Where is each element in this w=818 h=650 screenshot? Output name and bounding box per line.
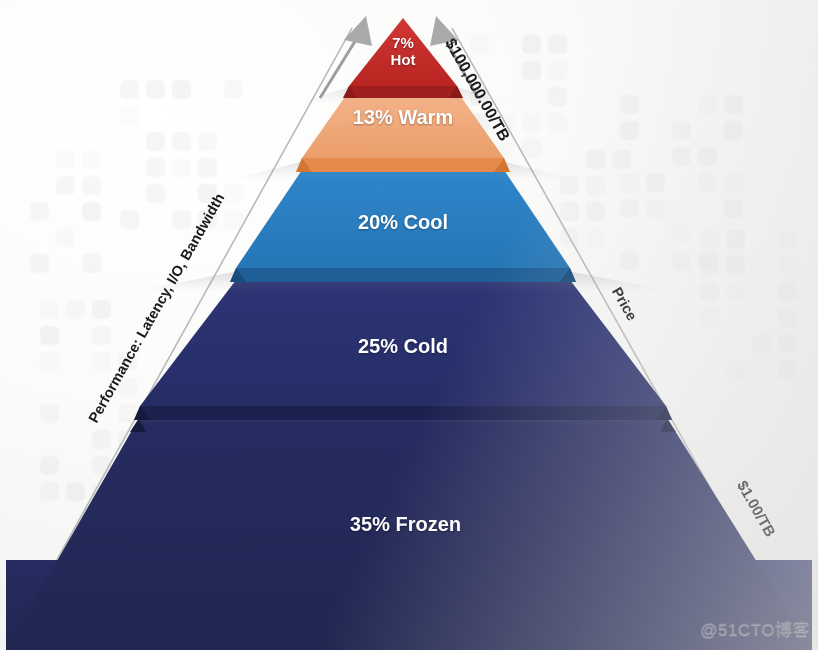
tier-shape-hot[interactable] <box>296 18 510 104</box>
pyramid-diagram-canvas: 7% Hot 13% Warm 20% Cool 25% Cold 35% Fr… <box>0 0 818 650</box>
pyramid-graphic <box>0 0 818 650</box>
tier-shape-cool[interactable] <box>130 170 676 292</box>
tier-shape-warm[interactable] <box>230 94 576 180</box>
